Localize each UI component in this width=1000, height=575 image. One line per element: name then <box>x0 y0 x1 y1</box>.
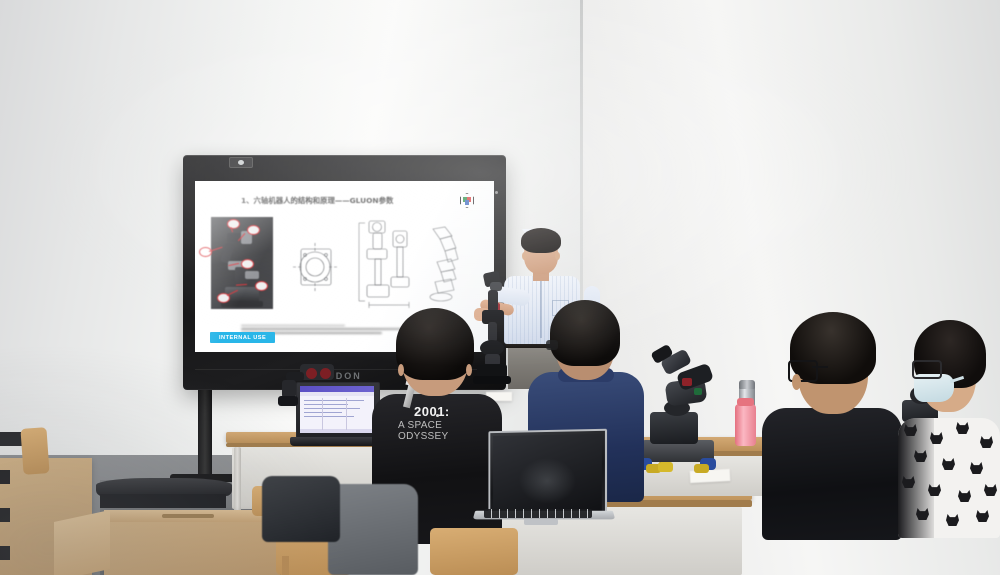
glasses-man-shirt <box>762 408 902 540</box>
slide-callout-4 <box>241 259 254 269</box>
macbook-trackpad[interactable] <box>524 519 558 525</box>
glasses-arm-icon <box>546 340 558 350</box>
thinkpad-screen-content <box>300 386 374 433</box>
macbook-lid <box>488 429 607 518</box>
bottle-cap <box>737 398 754 406</box>
chair-leg-1 <box>282 556 289 575</box>
slide-callout-3 <box>247 225 260 235</box>
pink-water-bottle <box>735 404 756 446</box>
black-backpack <box>262 476 340 542</box>
slide-cad-drawings <box>281 209 481 321</box>
slide-callout-2 <box>227 219 240 229</box>
gray-jacket <box>328 484 418 575</box>
slide-title: 1、六轴机器人的结构和原理——GLUON参数 <box>241 195 393 206</box>
woman-eyeglasses-icon <box>912 360 942 379</box>
webcam-icon <box>229 157 253 168</box>
box-flap-side <box>54 510 110 575</box>
macbook-keys[interactable] <box>484 509 592 518</box>
internal-use-badge: INTERNAL USE <box>210 332 275 343</box>
navy-polo-hair <box>550 300 620 366</box>
attendee-glasses-right <box>762 312 902 532</box>
thermos-cap <box>739 380 755 389</box>
attendee-masked-woman <box>898 320 1000 530</box>
student-hair <box>396 308 474 380</box>
slide-callout-6 <box>255 281 268 291</box>
chair-back-far-left <box>20 427 49 475</box>
cat-print-top <box>898 418 1000 538</box>
power-led-icon <box>495 191 498 194</box>
box-handle-2 <box>0 508 10 522</box>
display-stand-pole <box>198 388 212 480</box>
box-handle-1 <box>0 470 10 484</box>
dark-equipment-body <box>100 494 226 508</box>
lecture-room-photo: CDON 1、六轴机器人的结构和原理——GLUON参数 <box>0 0 1000 575</box>
company-hex-logo <box>460 193 474 208</box>
box-handle-slot <box>162 514 214 518</box>
wooden-chair-right <box>430 528 518 575</box>
box-handle-3 <box>0 546 10 560</box>
presenter-hair <box>521 228 561 253</box>
slide-callout-1 <box>199 247 212 257</box>
